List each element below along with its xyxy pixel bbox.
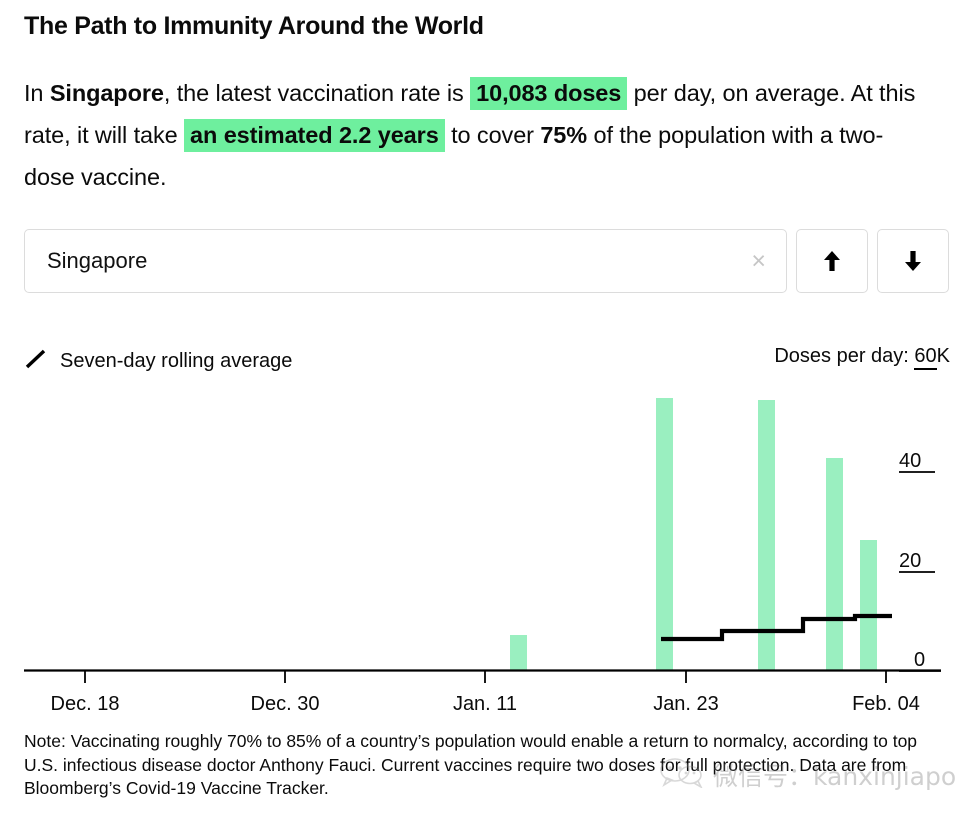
x-tick-label-4: Feb. 04 — [852, 693, 920, 715]
x-tick-label-1: Dec. 30 — [251, 693, 320, 715]
rolling-average-line — [661, 616, 892, 639]
clear-icon[interactable]: × — [749, 249, 768, 274]
country-search-input[interactable]: Singapore × — [24, 229, 787, 293]
x-tick-label-0: Dec. 18 — [51, 693, 120, 715]
x-axis-ticks — [85, 671, 886, 683]
x-tick-label-3: Jan. 23 — [653, 693, 719, 715]
country-selector-row: Singapore × — [24, 229, 949, 293]
country-search-value[interactable]: Singapore — [47, 248, 749, 274]
y-tick-label-0: 0 — [914, 649, 925, 671]
bar-jan-13[interactable] — [510, 635, 527, 670]
bar-feb-01[interactable] — [826, 458, 843, 670]
vaccination-rate-chart: 40 20 0 Dec. 18 Dec. 30 Jan. 11 Jan. 23 … — [0, 330, 973, 685]
page-title: The Path to Immunity Around the World — [24, 12, 484, 41]
y-tick-label-20: 20 — [899, 550, 921, 572]
y-tick-label-40: 40 — [899, 450, 921, 472]
bar-series — [510, 398, 877, 670]
x-axis-label-row: Dec. 18 Dec. 30 Jan. 11 Jan. 23 Feb. 04 — [0, 685, 973, 725]
chart-footnote: Note: Vaccinating roughly 70% to 85% of … — [24, 730, 929, 801]
intro-segment-1: In — [24, 80, 50, 106]
intro-coverage-target: 75% — [540, 122, 587, 148]
arrow-up-icon — [820, 248, 844, 274]
previous-country-button[interactable] — [796, 229, 868, 293]
bar-feb-03[interactable] — [860, 540, 877, 670]
bar-jan-22[interactable] — [656, 398, 673, 670]
x-tick-label-2: Jan. 11 — [453, 693, 517, 715]
arrow-down-icon — [901, 248, 925, 274]
rate-highlight: 10,083 doses — [470, 77, 627, 110]
summary-paragraph: In Singapore, the latest vaccination rat… — [24, 72, 930, 198]
estimate-highlight: an estimated 2.2 years — [184, 119, 445, 152]
next-country-button[interactable] — [877, 229, 949, 293]
intro-segment-4: to cover — [445, 122, 541, 148]
intro-country-name: Singapore — [50, 80, 164, 106]
chart-svg: 40 20 0 — [0, 330, 973, 685]
intro-segment-2: , the latest vaccination rate is — [164, 80, 470, 106]
